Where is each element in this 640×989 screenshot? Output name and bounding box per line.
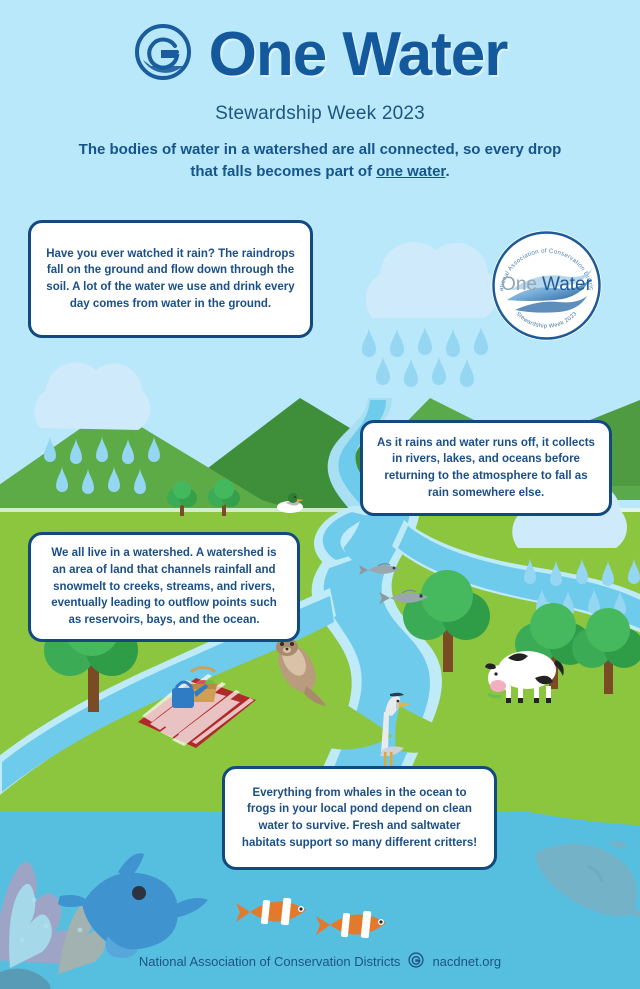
one-water-logo-icon-small: [408, 952, 424, 971]
page-title: One Water: [209, 24, 508, 86]
callout-text: Have you ever watched it rain? The raind…: [45, 246, 296, 313]
callout-runoff: As it rains and water runs off, it colle…: [360, 420, 612, 516]
lede-part-2: .: [445, 163, 449, 180]
footer-organization: National Association of Conservation Dis…: [139, 954, 401, 969]
stewardship-week-seal: National Association of Conservation Dis…: [489, 228, 604, 343]
callout-groundwater: Have you ever watched it rain? The raind…: [28, 220, 313, 338]
callout-watershed: We all live in a watershed. A watershed …: [28, 532, 300, 642]
lede-emphasis: one water: [376, 163, 445, 180]
callout-habitats: Everything from whales in the ocean to f…: [222, 766, 497, 870]
poster-subtitle: Stewardship Week 2023: [0, 103, 640, 125]
seal-center-water: Water: [542, 274, 593, 295]
one-water-poster: One Water Stewardship Week 2023 The bodi…: [0, 0, 640, 989]
one-water-logo-icon: [133, 22, 193, 87]
poster-footer: National Association of Conservation Dis…: [0, 952, 640, 971]
lede-part-1: The bodies of water in a watershed are a…: [79, 141, 562, 180]
seal-center-one: One: [501, 274, 537, 295]
footer-website[interactable]: nacdnet.org: [432, 954, 501, 969]
callout-text: Everything from whales in the ocean to f…: [239, 785, 480, 852]
title-row: One Water: [0, 0, 640, 87]
svg-text:OneWater: OneWater: [501, 274, 593, 295]
poster-lede: The bodies of water in a watershed are a…: [70, 139, 570, 183]
poster-header: One Water Stewardship Week 2023 The bodi…: [0, 0, 640, 183]
callout-text: As it rains and water runs off, it colle…: [377, 435, 595, 502]
callout-text: We all live in a watershed. A watershed …: [45, 545, 283, 628]
